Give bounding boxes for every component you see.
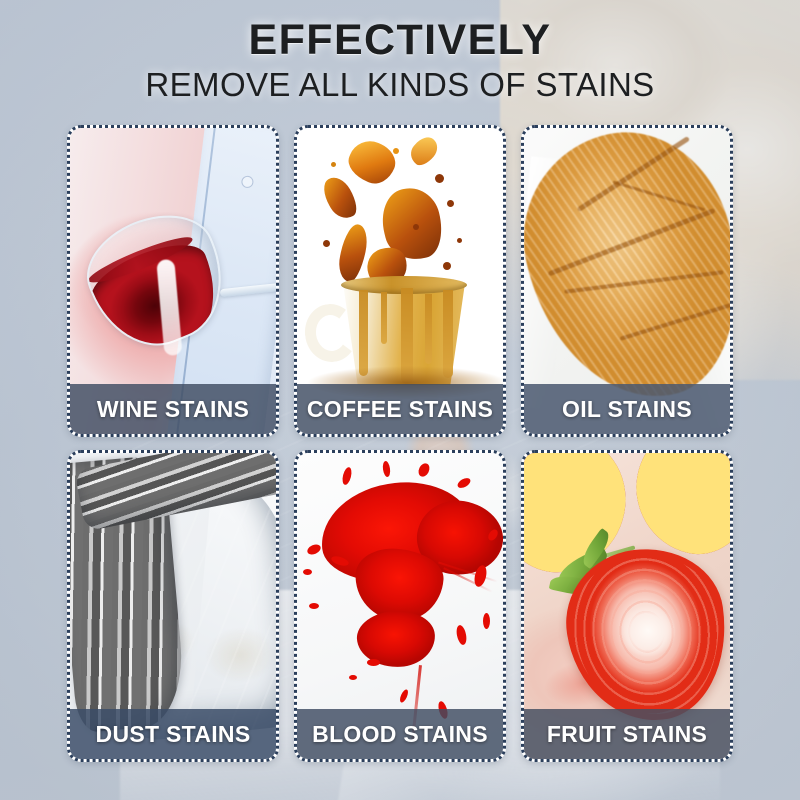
page-subtitle: REMOVE ALL KINDS OF STAINS xyxy=(0,67,800,103)
heading-block: EFFECTIVELY REMOVE ALL KINDS OF STAINS xyxy=(0,18,800,103)
coffee-drip xyxy=(425,294,432,364)
blood-droplet xyxy=(483,613,490,629)
blood-droplet xyxy=(303,569,312,575)
card-label-oil: OIL STAINS xyxy=(562,396,692,423)
card-label-dust: DUST STAINS xyxy=(96,721,251,748)
blood-droplet xyxy=(341,466,353,485)
card-label-fruit: FRUIT STAINS xyxy=(547,721,707,748)
coffee-droplet xyxy=(323,240,330,247)
coffee-droplet xyxy=(447,200,454,207)
coffee-drip xyxy=(443,290,453,378)
blood-droplet xyxy=(349,675,357,680)
oil-streak xyxy=(613,180,706,211)
coffee-splash xyxy=(335,222,371,284)
stain-card-dust[interactable]: DUST STAINS xyxy=(67,450,279,762)
coffee-splash xyxy=(343,135,401,189)
coffee-splash xyxy=(318,172,363,223)
blood-droplet xyxy=(382,461,391,478)
oil-stain-blob xyxy=(524,128,730,420)
coffee-droplet xyxy=(393,148,399,154)
card-label-bar-dust: DUST STAINS xyxy=(70,709,276,759)
card-label-bar-coffee: COFFEE STAINS xyxy=(297,384,503,434)
blood-droplet xyxy=(455,624,468,645)
stain-card-grid: WINE STAINS xyxy=(67,125,733,762)
blood-droplet xyxy=(456,476,472,490)
coffee-splash xyxy=(406,132,442,169)
oil-streak xyxy=(548,208,716,276)
stain-card-fruit[interactable]: FRUIT STAINS xyxy=(521,450,733,762)
coffee-droplet xyxy=(443,262,451,270)
coffee-droplet xyxy=(435,174,444,183)
blood-droplet xyxy=(416,462,431,479)
oil-streak xyxy=(620,302,730,340)
coffee-droplet xyxy=(331,162,336,167)
card-label-bar-blood: BLOOD STAINS xyxy=(297,709,503,759)
coffee-drip xyxy=(381,292,387,344)
oil-streak xyxy=(564,270,723,293)
coffee-droplet xyxy=(413,224,419,230)
blood-droplet xyxy=(309,603,319,609)
stain-card-coffee[interactable]: COFFEE STAINS xyxy=(294,125,506,437)
card-label-bar-oil: OIL STAINS xyxy=(524,384,730,434)
coffee-drip xyxy=(359,290,368,376)
coffee-droplet xyxy=(457,238,462,243)
blood-droplet xyxy=(398,688,409,703)
oil-streak xyxy=(577,136,690,212)
page-title: EFFECTIVELY xyxy=(0,18,800,64)
card-label-blood: BLOOD STAINS xyxy=(312,721,488,748)
blood-droplet xyxy=(306,543,322,557)
blood-droplet xyxy=(367,659,380,666)
card-label-coffee: COFFEE STAINS xyxy=(307,396,493,423)
stain-card-oil[interactable]: OIL STAINS xyxy=(521,125,733,437)
card-label-wine: WINE STAINS xyxy=(97,396,249,423)
card-label-bar-fruit: FRUIT STAINS xyxy=(524,709,730,759)
stain-card-blood[interactable]: BLOOD STAINS xyxy=(294,450,506,762)
card-label-bar-wine: WINE STAINS xyxy=(70,384,276,434)
stain-card-wine[interactable]: WINE STAINS xyxy=(67,125,279,437)
